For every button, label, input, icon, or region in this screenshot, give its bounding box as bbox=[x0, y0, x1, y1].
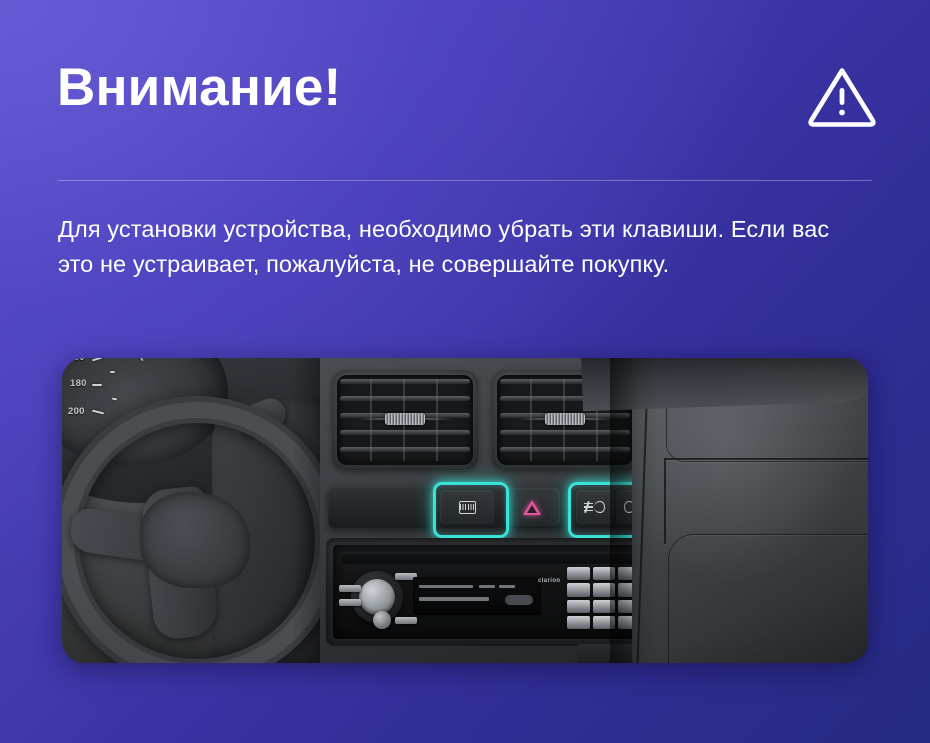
air-vent-left-inner bbox=[337, 375, 473, 465]
radio-bay: clarion bbox=[326, 538, 654, 646]
glovebox-panel[interactable] bbox=[668, 534, 868, 663]
gauge-tick bbox=[92, 358, 102, 361]
dash-switch-row bbox=[328, 486, 652, 528]
radio-preset-button[interactable] bbox=[567, 583, 590, 596]
hazard-lights-button[interactable] bbox=[504, 488, 560, 526]
hazard-triangle-icon bbox=[523, 500, 541, 515]
gauge-tick-label: 160 bbox=[68, 358, 85, 363]
fog-light-front-icon bbox=[584, 501, 606, 513]
vent-divider bbox=[436, 379, 438, 461]
vent-slat bbox=[340, 447, 470, 452]
header-divider bbox=[58, 180, 872, 181]
radio-side-button[interactable] bbox=[339, 585, 361, 592]
vent-thumbwheel[interactable] bbox=[545, 413, 585, 425]
steering-wheel-hub bbox=[140, 492, 250, 588]
radio-brand-label: clarion bbox=[538, 578, 560, 584]
radio-display bbox=[413, 577, 541, 615]
display-segment bbox=[479, 585, 495, 588]
radio-preset-button[interactable] bbox=[567, 567, 590, 580]
radio-side-button[interactable] bbox=[339, 599, 361, 606]
car-stereo-head-unit[interactable]: clarion bbox=[333, 545, 647, 639]
fog-light-front-button[interactable] bbox=[576, 490, 614, 524]
secondary-knob[interactable] bbox=[373, 611, 391, 629]
page-title: Внимание! bbox=[57, 57, 341, 119]
rear-defrost-button[interactable] bbox=[440, 490, 494, 524]
air-vent-left bbox=[332, 370, 478, 470]
volume-knob[interactable] bbox=[359, 579, 395, 615]
display-segment bbox=[419, 597, 489, 601]
radio-preset-button[interactable] bbox=[567, 616, 590, 629]
dashboard-shadow bbox=[610, 358, 656, 663]
temp-needle-tick bbox=[137, 358, 143, 361]
radio-side-button[interactable] bbox=[395, 617, 417, 624]
gauge-tick bbox=[110, 371, 115, 373]
display-segment bbox=[505, 595, 533, 605]
gauge-tick-label: 180 bbox=[70, 378, 87, 389]
notice-text: Для установки устройства, необходимо убр… bbox=[58, 212, 868, 282]
radio-preset-button[interactable] bbox=[567, 600, 590, 613]
vent-divider bbox=[370, 379, 372, 461]
vent-slat bbox=[340, 396, 470, 401]
vent-divider bbox=[530, 379, 532, 461]
warning-triangle-icon bbox=[806, 63, 878, 129]
banner-header: Внимание! bbox=[0, 0, 930, 182]
dash-seam-vertical bbox=[664, 458, 666, 544]
vent-slat bbox=[340, 379, 470, 384]
dash-seam-horizontal bbox=[666, 458, 868, 460]
rear-defrost-icon bbox=[459, 501, 476, 514]
car-dashboard-photo: km/h 140 160 180 200 H C bbox=[62, 358, 868, 663]
display-segment bbox=[419, 585, 473, 588]
gauge-tick bbox=[92, 384, 102, 386]
cd-slot[interactable] bbox=[341, 552, 639, 564]
display-segment bbox=[499, 585, 515, 588]
temp-mark-high: H bbox=[150, 358, 156, 359]
attention-banner: Внимание! Для установки устройства, необ… bbox=[0, 0, 930, 743]
vent-thumbwheel[interactable] bbox=[385, 413, 425, 425]
vent-slat bbox=[340, 430, 470, 435]
